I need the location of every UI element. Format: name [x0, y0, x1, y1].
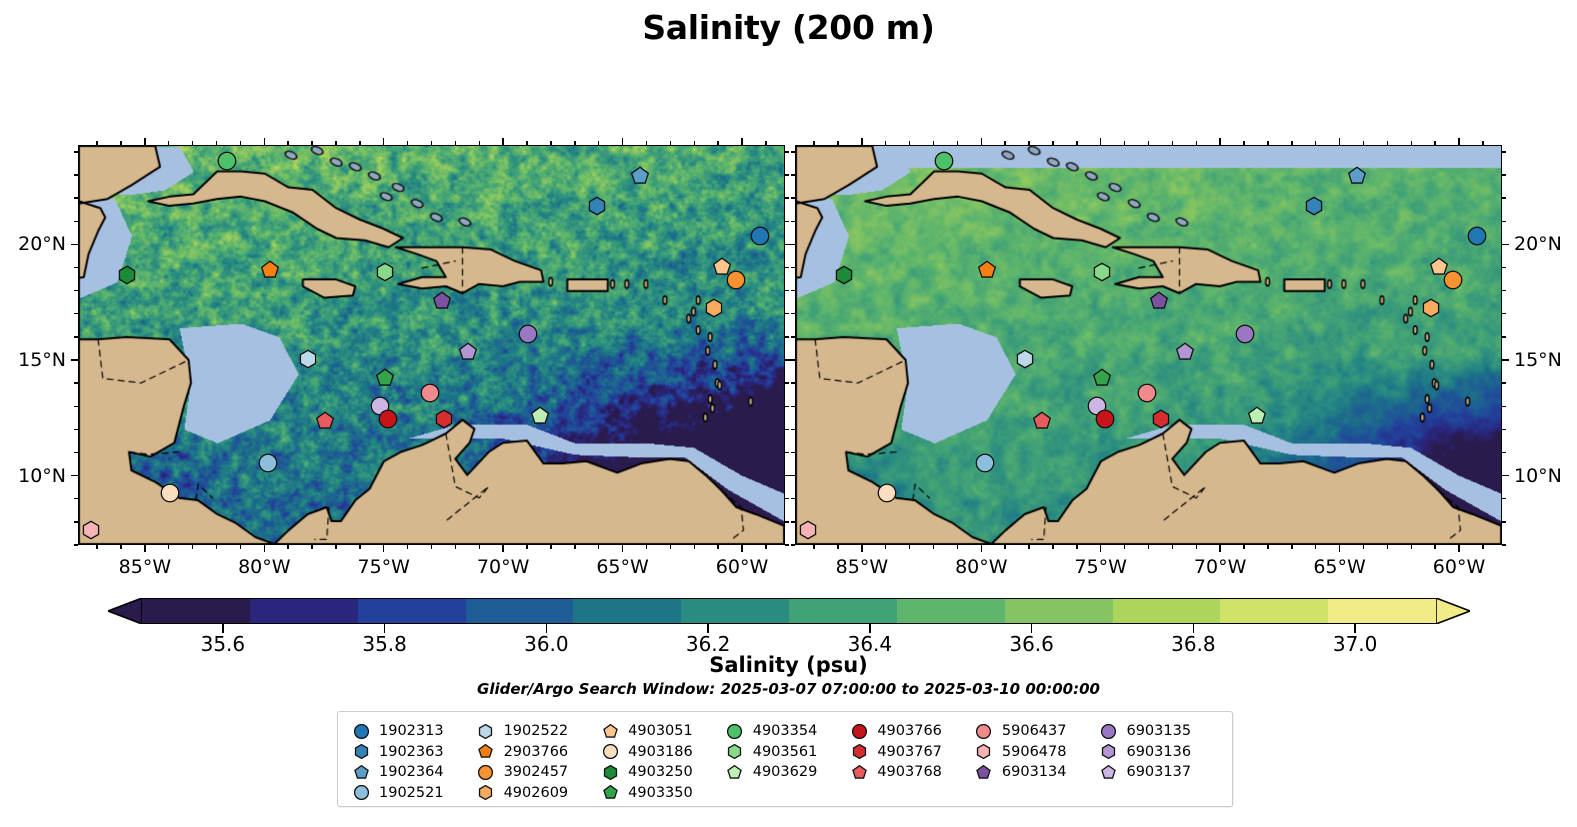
xtick-minor-top — [1411, 141, 1412, 145]
xtick-minor — [574, 545, 575, 549]
float-marker-6903134[interactable] — [433, 292, 452, 315]
ytick-minor-right — [785, 221, 789, 222]
xtick-minor-top — [479, 141, 480, 145]
ytick-label-right: 20°N — [1514, 233, 1562, 255]
xtick-minor — [1267, 545, 1268, 549]
ytick-minor-right — [1502, 521, 1506, 522]
xtick-minor — [216, 545, 217, 549]
ytick-major-left — [788, 475, 795, 476]
xtick-minor-top — [240, 141, 241, 145]
ytick-minor-left — [74, 336, 78, 337]
ytick-label-left: 15°N — [0, 349, 66, 371]
xtick-minor — [1196, 545, 1197, 549]
xtick-major — [981, 545, 982, 552]
xtick-label: 85°W — [119, 556, 171, 578]
float-marker-6903134[interactable] — [1150, 292, 1169, 315]
legend-item-1902522[interactable]: 1902522 — [475, 721, 600, 742]
xtick-label: 75°W — [1074, 556, 1126, 578]
xtick-minor-top — [1004, 141, 1005, 145]
colorbar-segment — [681, 599, 789, 623]
float-marker-1902521[interactable] — [258, 454, 277, 477]
ytick-label-right: 10°N — [1514, 465, 1562, 487]
ytick-minor-left — [74, 521, 78, 522]
xtick-minor-top — [670, 141, 671, 145]
legend-item-4903561[interactable]: 4903561 — [724, 742, 849, 763]
legend-item-1902364[interactable]: 1902364 — [350, 762, 475, 783]
float-marker-3902457[interactable] — [726, 271, 745, 294]
colorbar-segment — [250, 599, 358, 623]
legend-marker-icon — [475, 744, 497, 759]
float-marker-3902457[interactable] — [1443, 271, 1462, 294]
ytick-minor-left — [791, 174, 795, 175]
legend-item-label: 1902313 — [372, 723, 444, 739]
xtick-minor — [96, 545, 97, 549]
xtick-minor — [1124, 545, 1125, 549]
ytick-minor-left — [791, 313, 795, 314]
legend-item-4903250[interactable]: 4903250 — [599, 762, 724, 783]
xtick-minor-top — [933, 141, 934, 145]
legend-item-5906437[interactable]: 5906437 — [973, 721, 1098, 742]
colorbar-extend-right — [1436, 598, 1470, 624]
legend-column: 1902313190236319023641902521 — [350, 721, 475, 803]
legend-item-6903137[interactable]: 6903137 — [1097, 762, 1222, 783]
ytick-minor-right — [1502, 544, 1506, 545]
colorbar-segment — [789, 599, 897, 623]
legend-item-label: 2903766 — [497, 744, 569, 760]
legend-item-label: 1902363 — [372, 744, 444, 760]
xtick-minor — [479, 545, 480, 549]
ytick-minor-right — [785, 290, 789, 291]
xtick-minor-top — [1124, 141, 1125, 145]
ytick-minor-left — [791, 544, 795, 545]
legend-marker-icon — [848, 765, 870, 780]
float-marker-6903136[interactable] — [459, 343, 478, 366]
legend-item-label: 5906437 — [995, 723, 1067, 739]
xtick-minor-top — [1363, 141, 1364, 145]
legend-item-2903766[interactable]: 2903766 — [475, 742, 600, 763]
ytick-minor-left — [74, 174, 78, 175]
xtick-minor-top — [1267, 141, 1268, 145]
xtick-minor — [311, 545, 312, 549]
ytick-minor-right — [1502, 498, 1506, 499]
ytick-minor-right — [785, 267, 789, 268]
xtick-minor — [813, 545, 814, 549]
xtick-minor — [1363, 545, 1364, 549]
float-marker-6903136[interactable] — [1176, 343, 1195, 366]
ytick-minor-right — [785, 521, 789, 522]
xtick-minor-top — [1243, 141, 1244, 145]
salinity-field-espc — [796, 146, 1501, 544]
float-marker-1902522[interactable] — [1016, 350, 1035, 373]
xtick-minor — [670, 545, 671, 549]
ytick-minor-right — [1502, 197, 1506, 198]
legend-item-label: 4903768 — [870, 764, 942, 780]
ytick-minor-left — [791, 336, 795, 337]
xtick-major-top — [1339, 138, 1340, 145]
float-marker-4903186[interactable] — [877, 484, 896, 507]
ytick-minor-left — [74, 406, 78, 407]
legend-item-label: 6903135 — [1119, 723, 1191, 739]
xtick-minor — [550, 545, 551, 549]
xtick-minor — [765, 545, 766, 549]
ytick-minor-right — [785, 544, 789, 545]
xtick-minor-top — [287, 141, 288, 145]
legend-marker-icon — [475, 724, 497, 739]
ytick-minor-left — [74, 267, 78, 268]
ytick-minor-right — [785, 151, 789, 152]
xtick-minor-top — [550, 141, 551, 145]
legend-item-label: 3902457 — [497, 764, 569, 780]
ytick-major-left — [71, 244, 78, 245]
legend-marker-icon — [599, 744, 621, 759]
float-marker-2903766[interactable] — [261, 261, 280, 284]
float-marker-5906437[interactable] — [421, 383, 440, 406]
xtick-major — [1219, 545, 1220, 552]
colorbar-segment — [897, 599, 1005, 623]
float-marker-4902609[interactable] — [1422, 299, 1441, 322]
colorbar-segment — [573, 599, 681, 623]
float-marker-4903250[interactable] — [834, 265, 853, 288]
ytick-label-left: 20°N — [0, 233, 66, 255]
xtick-minor — [335, 545, 336, 549]
xtick-minor-top — [192, 141, 193, 145]
legend-item-1902363[interactable]: 1902363 — [350, 742, 475, 763]
xtick-minor — [1172, 545, 1173, 549]
xtick-minor — [1148, 545, 1149, 549]
float-marker-4903350[interactable] — [1092, 368, 1111, 391]
xtick-minor — [407, 545, 408, 549]
xtick-minor — [1291, 545, 1292, 549]
ytick-major-left — [788, 244, 795, 245]
legend-marker-icon — [599, 724, 621, 739]
ytick-major-right — [1502, 475, 1509, 476]
ytick-minor-right — [1502, 267, 1506, 268]
float-marker-1902363[interactable] — [1305, 197, 1324, 220]
ytick-minor-left — [74, 290, 78, 291]
legend-marker-icon — [599, 785, 621, 800]
float-marker-5906478[interactable] — [798, 521, 817, 544]
xtick-major — [1339, 545, 1340, 552]
xtick-minor-top — [694, 141, 695, 145]
colorbar-segment — [1220, 599, 1328, 623]
legend-marker-icon — [724, 765, 746, 780]
ytick-major-right — [1502, 244, 1509, 245]
xtick-minor-top — [96, 141, 97, 145]
xtick-major-top — [1100, 138, 1101, 145]
salinity-field-rtofs — [79, 146, 784, 544]
float-marker-6903135[interactable] — [519, 324, 538, 347]
legend-item-4902609[interactable]: 4902609 — [475, 783, 600, 804]
ytick-minor-right — [1502, 221, 1506, 222]
xtick-minor — [1028, 545, 1029, 549]
float-marker-4903766[interactable] — [1096, 410, 1115, 433]
ytick-minor-left — [791, 406, 795, 407]
float-marker-2903766[interactable] — [978, 261, 997, 284]
legend-marker-icon — [475, 785, 497, 800]
xtick-minor-top — [1482, 141, 1483, 145]
ytick-minor-left — [74, 313, 78, 314]
float-marker-4902609[interactable] — [705, 299, 724, 322]
xtick-major — [502, 545, 503, 552]
colorbar-segment — [1113, 599, 1221, 623]
legend-item-label: 6903134 — [995, 764, 1067, 780]
legend-item-4903629[interactable]: 4903629 — [724, 762, 849, 783]
legend-item-3902457[interactable]: 3902457 — [475, 762, 600, 783]
legend-item-5906478[interactable]: 5906478 — [973, 742, 1098, 763]
xtick-major-top — [981, 138, 982, 145]
ytick-minor-right — [785, 336, 789, 337]
legend-marker-icon — [973, 765, 995, 780]
xtick-minor — [646, 545, 647, 549]
ytick-minor-right — [1502, 406, 1506, 407]
xtick-major-top — [144, 138, 145, 145]
colorbar-gradient — [142, 598, 1436, 624]
xtick-minor — [885, 545, 886, 549]
xtick-label: 80°W — [955, 556, 1007, 578]
xtick-major — [861, 545, 862, 552]
legend-item-4903350[interactable]: 4903350 — [599, 783, 724, 804]
legend-marker-icon — [350, 724, 372, 739]
colorbar-segment — [358, 599, 466, 623]
float-marker-5906478[interactable] — [81, 521, 100, 544]
xtick-minor — [1411, 545, 1412, 549]
float-marker-4903767[interactable] — [435, 410, 454, 433]
legend-column: 690313569031366903137 — [1097, 721, 1222, 803]
ytick-minor-left — [791, 151, 795, 152]
legend-item-4903051[interactable]: 4903051 — [599, 721, 724, 742]
xtick-minor-top — [216, 141, 217, 145]
legend-item-label: 6903137 — [1119, 764, 1191, 780]
float-marker-4903561[interactable] — [1092, 263, 1111, 286]
float-marker-1902521[interactable] — [975, 454, 994, 477]
xtick-minor-top — [957, 141, 958, 145]
float-marker-4903186[interactable] — [160, 484, 179, 507]
float-marker-4903561[interactable] — [375, 263, 394, 286]
legend-marker-icon — [848, 744, 870, 759]
xtick-minor-top — [1172, 141, 1173, 145]
legend-column: 1902522290376639024574902609 — [475, 721, 600, 803]
xtick-minor-top — [431, 141, 432, 145]
legend-marker-icon — [1097, 724, 1119, 739]
legend-item-label: 6903136 — [1119, 744, 1191, 760]
ytick-minor-left — [74, 544, 78, 545]
map-panel-espc[interactable]: ESPC - 2025-03-10 00:00:00 — [795, 145, 1502, 545]
ytick-label-right: 15°N — [1514, 349, 1562, 371]
ytick-minor-left — [74, 452, 78, 453]
ytick-minor-left — [74, 382, 78, 383]
colorbar-segment — [466, 599, 574, 623]
xtick-major-top — [1458, 138, 1459, 145]
float-marker-1902364[interactable] — [631, 167, 650, 190]
xtick-major — [1458, 545, 1459, 552]
xtick-label: 70°W — [1194, 556, 1246, 578]
float-marker-4903768[interactable] — [1033, 412, 1052, 435]
legend-column: 4903051490318649032504903350 — [599, 721, 724, 803]
xtick-minor-top — [1028, 141, 1029, 145]
xtick-minor — [359, 545, 360, 549]
legend-marker-icon — [475, 765, 497, 780]
ytick-minor-left — [791, 290, 795, 291]
float-marker-1902522[interactable] — [299, 350, 318, 373]
legend-marker-icon — [724, 724, 746, 739]
legend-item-4903766[interactable]: 4903766 — [848, 721, 973, 742]
legend-item-label: 4903629 — [746, 764, 818, 780]
legend-item-1902521[interactable]: 1902521 — [350, 783, 475, 804]
xtick-minor — [909, 545, 910, 549]
float-marker-5906437[interactable] — [1138, 383, 1157, 406]
xtick-minor — [933, 545, 934, 549]
legend-item-label: 1902521 — [372, 785, 444, 801]
xtick-minor — [120, 545, 121, 549]
float-marker-4903354[interactable] — [218, 152, 237, 175]
ytick-minor-left — [74, 197, 78, 198]
xtick-label: 60°W — [716, 556, 768, 578]
ytick-minor-right — [1502, 313, 1506, 314]
legend-marker-icon — [350, 744, 372, 759]
legend-item-label: 4903354 — [746, 723, 818, 739]
xtick-minor — [1076, 545, 1077, 549]
legend-item-label: 4903186 — [621, 744, 693, 760]
legend-item-label: 4903766 — [870, 723, 942, 739]
ytick-minor-left — [791, 452, 795, 453]
xtick-major-top — [383, 138, 384, 145]
xtick-minor-top — [311, 141, 312, 145]
float-marker-4903250[interactable] — [117, 265, 136, 288]
legend-column: 590643759064786903134 — [973, 721, 1098, 803]
xtick-label: 85°W — [836, 556, 888, 578]
xtick-minor-top — [168, 141, 169, 145]
ytick-minor-right — [785, 452, 789, 453]
xtick-minor-top — [1196, 141, 1197, 145]
legend-marker-icon — [724, 744, 746, 759]
xtick-minor — [168, 545, 169, 549]
legend-marker-icon — [350, 765, 372, 780]
ytick-minor-right — [1502, 382, 1506, 383]
xtick-minor — [1243, 545, 1244, 549]
float-marker-4903767[interactable] — [1152, 410, 1171, 433]
legend-columns: 1902313190236319023641902521190252229037… — [338, 712, 1232, 803]
legend-item-4903767[interactable]: 4903767 — [848, 742, 973, 763]
ytick-minor-right — [1502, 336, 1506, 337]
xtick-minor-top — [1052, 141, 1053, 145]
legend-marker-icon — [1097, 744, 1119, 759]
xtick-minor-top — [885, 141, 886, 145]
ytick-minor-right — [785, 429, 789, 430]
float-marker-1902364[interactable] — [1348, 167, 1367, 190]
ytick-minor-left — [74, 151, 78, 152]
xtick-minor — [526, 545, 527, 549]
float-marker-4903629[interactable] — [1247, 406, 1266, 429]
ytick-minor-right — [1502, 429, 1506, 430]
xtick-minor-top — [526, 141, 527, 145]
ytick-minor-left — [791, 267, 795, 268]
ytick-minor-left — [74, 221, 78, 222]
xtick-minor — [431, 545, 432, 549]
float-marker-4903768[interactable] — [316, 412, 335, 435]
legend-item-label: 4903051 — [621, 723, 693, 739]
legend-item-4903354[interactable]: 4903354 — [724, 721, 849, 742]
xtick-minor-top — [598, 141, 599, 145]
xtick-minor-top — [359, 141, 360, 145]
legend-item-4903186[interactable]: 4903186 — [599, 742, 724, 763]
float-marker-6903135[interactable] — [1236, 324, 1255, 347]
xtick-label: 75°W — [357, 556, 409, 578]
legend-item-6903134[interactable]: 6903134 — [973, 762, 1098, 783]
map-panel-rtofs[interactable]: RTOFS - 2025-03-10 00:00:00 — [78, 145, 785, 545]
float-marker-4903350[interactable] — [375, 368, 394, 391]
xtick-major-top — [1219, 138, 1220, 145]
ytick-minor-right — [785, 197, 789, 198]
xtick-label: 70°W — [477, 556, 529, 578]
legend-item-6903136[interactable]: 6903136 — [1097, 742, 1222, 763]
float-marker-1902363[interactable] — [588, 197, 607, 220]
legend-column: 490376649037674903768 — [848, 721, 973, 803]
xtick-minor — [1387, 545, 1388, 549]
ytick-major-left — [71, 475, 78, 476]
figure-title: Salinity (200 m) — [0, 8, 1577, 47]
legend-marker-icon — [599, 765, 621, 780]
xtick-minor-top — [1148, 141, 1149, 145]
ytick-label-left: 10°N — [0, 465, 66, 487]
legend-marker-icon — [973, 724, 995, 739]
xtick-minor-top — [1387, 141, 1388, 145]
float-legend[interactable]: 1902313190236319023641902521190252229037… — [337, 711, 1233, 807]
xtick-minor — [717, 545, 718, 549]
xtick-minor-top — [455, 141, 456, 145]
float-marker-4903354[interactable] — [935, 152, 954, 175]
ytick-minor-right — [785, 382, 789, 383]
xtick-minor — [1434, 545, 1435, 549]
xtick-minor — [694, 545, 695, 549]
legend-column: 490335449035614903629 — [724, 721, 849, 803]
ytick-minor-left — [74, 429, 78, 430]
xtick-minor — [1004, 545, 1005, 549]
ytick-minor-right — [785, 313, 789, 314]
ytick-major-left — [788, 359, 795, 360]
ytick-minor-right — [785, 406, 789, 407]
xtick-label: 65°W — [1313, 556, 1365, 578]
float-marker-4903629[interactable] — [530, 406, 549, 429]
xtick-major-top — [861, 138, 862, 145]
xtick-minor — [287, 545, 288, 549]
ytick-major-right — [1502, 359, 1509, 360]
float-marker-1902313[interactable] — [1467, 227, 1486, 250]
legend-item-4903768[interactable]: 4903768 — [848, 762, 973, 783]
xtick-major-top — [264, 138, 265, 145]
xtick-minor — [455, 545, 456, 549]
legend-item-label: 4903561 — [746, 744, 818, 760]
legend-marker-icon — [1097, 765, 1119, 780]
float-marker-1902313[interactable] — [750, 227, 769, 250]
xtick-minor — [837, 545, 838, 549]
ytick-minor-right — [785, 498, 789, 499]
colorbar[interactable]: 35.635.836.036.236.436.636.837.0 — [108, 598, 1470, 624]
legend-marker-icon — [350, 785, 372, 800]
ytick-minor-left — [791, 197, 795, 198]
float-marker-4903766[interactable] — [379, 410, 398, 433]
xtick-minor-top — [837, 141, 838, 145]
legend-item-6903135[interactable]: 6903135 — [1097, 721, 1222, 742]
xtick-minor-top — [1076, 141, 1077, 145]
xtick-minor-top — [407, 141, 408, 145]
xtick-label: 80°W — [238, 556, 290, 578]
legend-item-label: 4903767 — [870, 744, 942, 760]
ytick-minor-right — [1502, 174, 1506, 175]
ytick-minor-left — [74, 498, 78, 499]
ytick-minor-left — [791, 221, 795, 222]
legend-item-1902313[interactable]: 1902313 — [350, 721, 475, 742]
search-window-subtitle: Glider/Argo Search Window: 2025-03-07 07… — [0, 680, 1577, 698]
